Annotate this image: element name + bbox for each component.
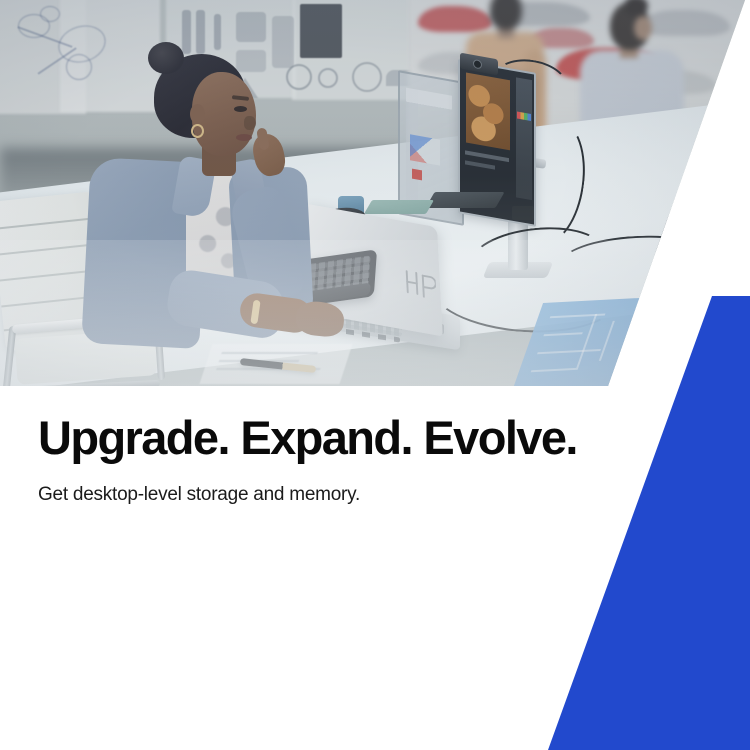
sketch-ink-circle-d <box>40 6 60 22</box>
notebook-dark <box>425 192 504 208</box>
page-subtitle: Get desktop-level storage and memory. <box>38 483 558 507</box>
sketch-glyph-ring-3 <box>352 62 382 92</box>
left-monitor-accent <box>412 169 422 181</box>
woman-lips <box>236 134 252 141</box>
promo-banner: Upgrade. Expand. Evolve. Get desktop-lev… <box>0 0 750 750</box>
woman-earring <box>191 124 204 138</box>
woman-eye <box>234 106 247 112</box>
blueprint-line <box>599 321 615 361</box>
blueprint-line <box>543 332 582 336</box>
photo-canvas <box>0 0 750 386</box>
blueprint-line <box>537 349 601 354</box>
right-monitor-toolbar-1 <box>465 150 509 162</box>
document-line <box>221 352 318 354</box>
woman-ear <box>190 104 205 124</box>
blueprint-line <box>576 314 598 370</box>
sketch-ink-circle-c <box>66 54 92 80</box>
woman-at-desk <box>128 38 328 386</box>
chair-rib <box>0 217 101 230</box>
hp-logo-icon <box>403 267 436 301</box>
blueprint-line <box>531 368 577 372</box>
notebook-teal <box>364 200 434 214</box>
marketing-copy: Upgrade. Expand. Evolve. Get desktop-lev… <box>38 414 558 507</box>
woman-nose <box>244 116 256 130</box>
woman-hair-bun <box>148 42 184 74</box>
bg-person-tan-head <box>490 0 522 30</box>
webcam-lens-icon <box>474 60 481 68</box>
hero-photo <box>0 0 750 386</box>
left-monitor-artwork <box>410 134 440 165</box>
right-monitor-toolbar-2 <box>465 160 495 169</box>
bg-person-gray-face <box>634 16 652 40</box>
page-title: Upgrade. Expand. Evolve. <box>38 414 558 461</box>
